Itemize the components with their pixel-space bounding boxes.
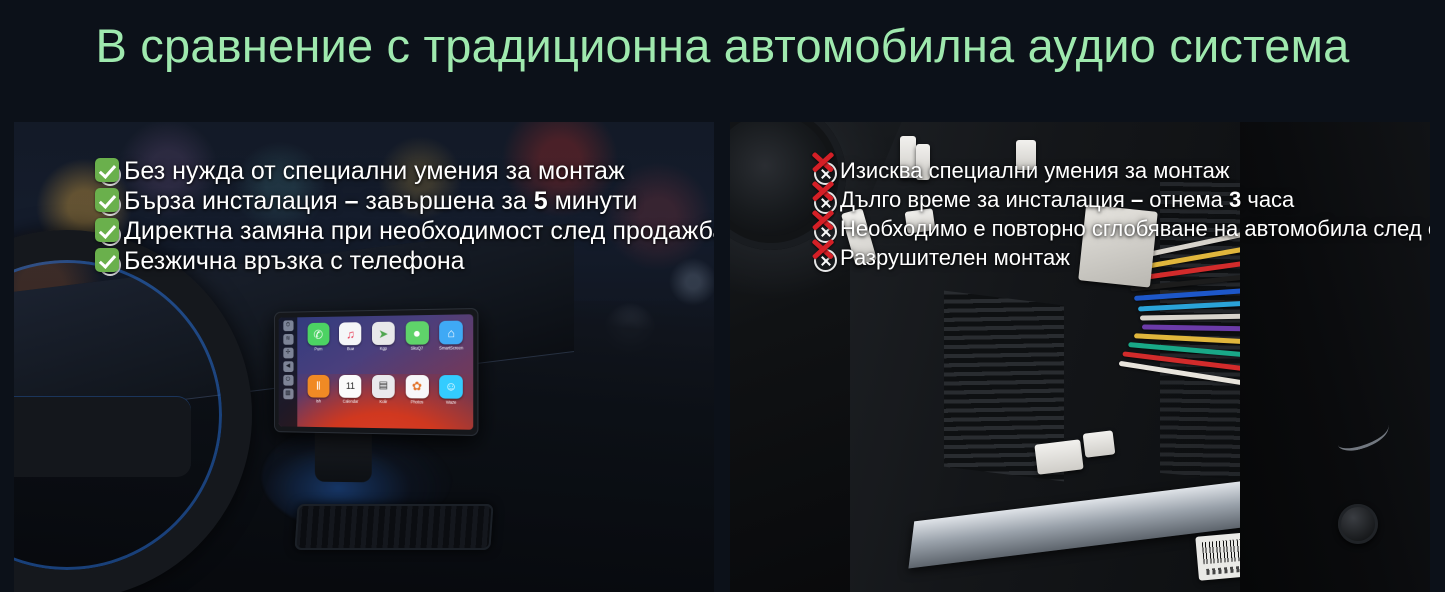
volume-icon[interactable]: ◀ <box>283 361 293 372</box>
list-item: Изисква специални умения за монтаж <box>811 156 1430 185</box>
music-icon: ♫ <box>339 322 361 345</box>
carplay-app-smartscreen[interactable]: ⌂ SmartScreen <box>434 321 468 374</box>
power-icon[interactable]: ⏻ <box>283 375 293 386</box>
list-item-label: Разрушителен монтаж <box>840 243 1070 272</box>
carplay-app-grid: ✆ Pum ♫ Buи ➤ Kgp ● SkuQ <box>297 314 473 430</box>
list-item-label: Дълго време за инсталация – отнема 3 час… <box>840 185 1294 214</box>
now-playing-icon: ‖ <box>307 374 329 397</box>
right-comparison-panel: Изисква специални умения за монтаж Дълго… <box>730 122 1430 592</box>
carplay-app-label: Kgp <box>380 346 387 351</box>
carplay-screen: ⏱ ≋ ✢ ◀ ⏻ ▦ ✆ Pum ♫ <box>279 314 474 430</box>
photos-icon: ✿ <box>405 375 428 398</box>
carplay-app-waze[interactable]: ☺ Waze <box>434 375 468 428</box>
carplay-app-label: Ish <box>316 398 321 403</box>
carplay-app-label: Buи <box>347 346 354 351</box>
green-check-icon <box>95 246 124 276</box>
messages-icon: ● <box>405 321 428 345</box>
carplay-app-podcasts[interactable]: ▤ Kolir <box>367 374 399 426</box>
air-vents <box>294 504 493 550</box>
carplay-head-unit: ⏱ ≋ ✢ ◀ ⏻ ▦ ✆ Pum ♫ <box>274 308 478 436</box>
carplay-app-phone[interactable]: ✆ Pum <box>303 323 334 374</box>
advantages-list: Без нужда от специални умения за монтаж … <box>95 156 714 276</box>
disadvantages-list: Изисква специални умения за монтаж Дълго… <box>811 156 1430 272</box>
green-check-icon <box>95 186 124 216</box>
list-item: Безжична връзка с телефона <box>95 246 714 276</box>
list-item: Без нужда от специални умения за монтаж <box>95 156 714 186</box>
carplay-sidebar: ⏱ ≋ ✢ ◀ ⏻ ▦ <box>279 317 298 426</box>
list-item: Дълго време за инсталация – отнема 3 час… <box>811 185 1430 214</box>
control-knob <box>1338 504 1378 544</box>
left-comparison-panel: ⏱ ≋ ✢ ◀ ⏻ ▦ ✆ Pum ♫ <box>14 122 714 592</box>
red-cross-icon <box>811 243 840 273</box>
carplay-app-music[interactable]: ♫ Buи <box>335 322 367 373</box>
carplay-app-label: Calendar <box>343 398 359 403</box>
waze-icon: ☺ <box>439 375 463 399</box>
carplay-app-label: SkuQ7 <box>411 346 423 351</box>
list-item-label: Без нужда от специални умения за монтаж <box>124 156 625 186</box>
list-item-label: Директна замяна при необходимост след пр… <box>124 216 714 246</box>
list-item: Разрушителен монтаж <box>811 243 1430 272</box>
bluetooth-icon[interactable]: ✢ <box>283 348 293 359</box>
green-check-icon <box>95 216 124 246</box>
list-item-label: Безжична връзка с телефона <box>124 246 465 276</box>
wire-connector <box>1083 430 1116 457</box>
wire-connector <box>1034 439 1083 474</box>
carplay-app-label: Waze <box>446 399 456 404</box>
green-check-icon <box>95 156 124 186</box>
carplay-app-messages[interactable]: ● SkuQ7 <box>401 321 434 373</box>
list-item-label: Изисква специални умения за монтаж <box>840 156 1230 185</box>
carplay-app-label: SmartScreen <box>439 345 463 350</box>
carplay-app-label: Photos <box>411 399 424 404</box>
podcasts-icon: ▤ <box>372 374 395 397</box>
apps-icon[interactable]: ▦ <box>283 389 293 400</box>
list-item: Директна замяна при необходимост след пр… <box>95 216 714 246</box>
wifi-icon[interactable]: ≋ <box>283 334 293 345</box>
maps-icon: ➤ <box>372 322 395 345</box>
carplay-app-now-playing[interactable]: ‖ Ish <box>303 374 334 425</box>
list-item-label: Бърза инсталация – завършена за 5 минути <box>124 186 637 216</box>
carplay-app-calendar[interactable]: 11 Calendar <box>335 374 367 425</box>
clock-icon[interactable]: ⏱ <box>283 320 293 331</box>
list-item-label: Необходимо е повторно сглобяване на авто… <box>840 214 1430 243</box>
carplay-app-label: Pum <box>314 346 322 351</box>
page-title: В сравнение с традиционна автомобилна ау… <box>0 20 1445 72</box>
smartscreen-icon: ⌂ <box>439 321 463 345</box>
list-item: Необходимо е повторно сглобяване на авто… <box>811 214 1430 243</box>
carplay-app-photos[interactable]: ✿ Photos <box>401 375 434 428</box>
slide-root: В сравнение с традиционна автомобилна ау… <box>0 0 1445 592</box>
calendar-icon: 11 <box>339 374 361 397</box>
phone-icon: ✆ <box>307 323 329 346</box>
list-item: Бърза инсталация – завършена за 5 минути <box>95 186 714 216</box>
carplay-app-maps[interactable]: ➤ Kgp <box>367 322 399 374</box>
carplay-app-label: Kolir <box>379 399 387 404</box>
